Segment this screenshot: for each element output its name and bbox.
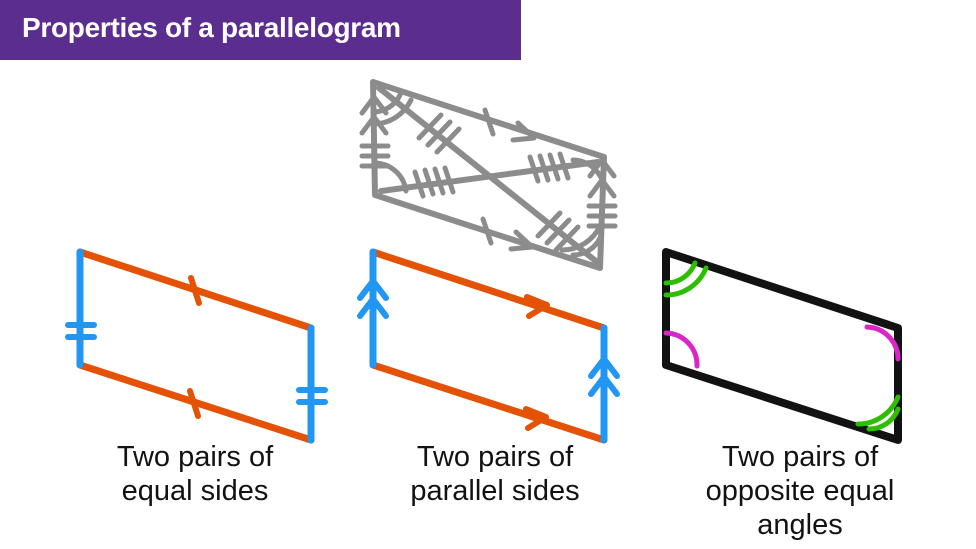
equal-sides-tick-bottom-single [190,391,198,416]
caption-opposite-angles: Two pairs of opposite equal angles [645,440,955,542]
parallel-sides-bottom-edge [373,365,604,440]
figure-parallel-sides [360,252,617,440]
opposite-angles-arc-bottom-left-magenta [666,333,697,366]
figure-opposite-angles [666,252,898,440]
figure-equal-sides [68,252,325,440]
equal-sides-tick-top-single [191,278,199,303]
figure-combined-gray [362,82,615,268]
caption-equal-sides: Two pairs of equal sides [45,440,345,508]
opposite-angles-arc-bottom-right-green [858,397,898,429]
parallel-sides-top-edge [373,252,604,328]
caption-parallel-sides: Two pairs of parallel sides [345,440,645,508]
opposite-angles-arc-top-right-magenta [867,327,898,359]
opposite-angles-arc-top-left-green [666,263,706,295]
